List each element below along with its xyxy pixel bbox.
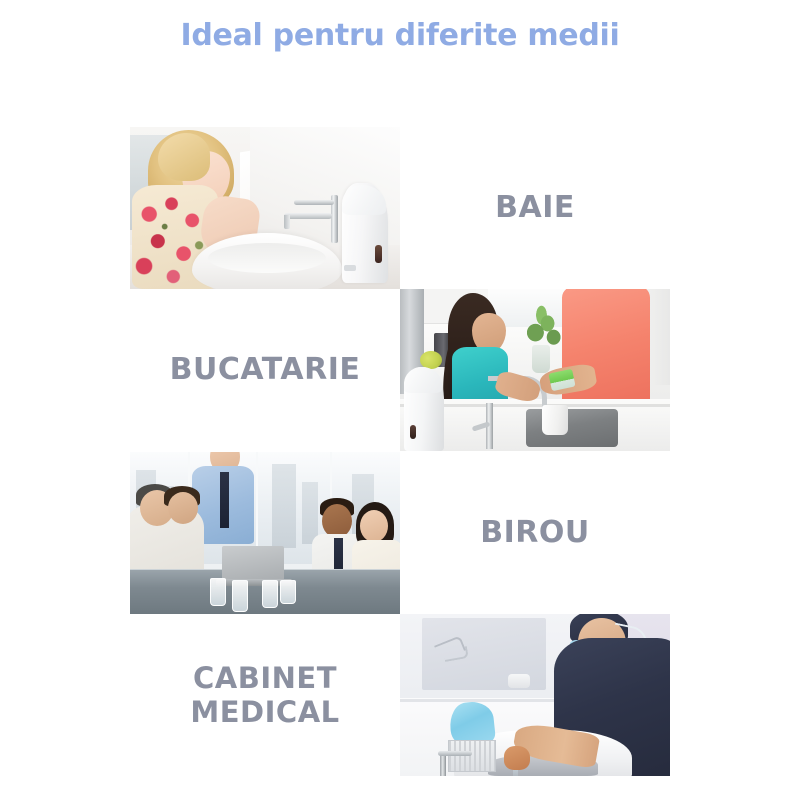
kitchen-image-cell <box>400 289 670 451</box>
medical-tap-arm <box>438 751 472 756</box>
medical-photo <box>400 614 670 776</box>
kitchen-photo <box>400 289 670 451</box>
office-image-cell <box>130 452 400 614</box>
water-glass-four <box>280 580 296 604</box>
kitchen-label-cell: BUCATARIE <box>130 289 400 451</box>
bathroom-faucet-handle <box>294 200 334 205</box>
seated-man-left2-head <box>168 492 198 524</box>
section-office: BIROU <box>130 452 670 614</box>
soap-dispenser-bathroom-nozzle <box>344 265 356 271</box>
medical-image-cell <box>400 614 670 776</box>
label-bucatarie: BUCATARIE <box>170 352 361 387</box>
soap-dispenser-bathroom-sensor <box>375 245 382 263</box>
surgeon-hands <box>504 746 530 770</box>
office-label-cell: BIROU <box>400 452 670 614</box>
label-cabinet-medical-line2: MEDICAL <box>190 695 339 729</box>
water-glass-two <box>232 580 248 612</box>
office-building-three <box>272 464 296 548</box>
label-baie: BAIE <box>495 190 575 225</box>
medical-soap-dispenser <box>508 674 530 688</box>
bathroom-image-cell <box>130 127 400 289</box>
child-hair-front <box>158 133 210 181</box>
section-bathroom: BAIE <box>130 127 670 289</box>
seated-woman-head <box>360 510 388 542</box>
bathroom-label-cell: BAIE <box>400 127 670 289</box>
soap-dispenser-kitchen-sensor <box>410 425 416 439</box>
white-mug <box>542 405 568 435</box>
seated-man-right-head <box>322 504 352 538</box>
office-building-four <box>302 482 318 544</box>
office-laptop-screen <box>222 546 284 580</box>
label-birou: BIROU <box>480 515 590 550</box>
medical-label-cell: CABINET MEDICAL <box>130 614 400 776</box>
water-glass-three <box>262 580 278 608</box>
medical-instrument-rack <box>448 740 496 772</box>
standing-man-tie <box>220 472 229 528</box>
page-title: Ideal pentru diferite medii <box>0 18 800 53</box>
section-kitchen: BUCATARIE <box>130 289 670 451</box>
bathroom-faucet-spout <box>284 213 332 219</box>
bathroom-photo <box>130 127 400 289</box>
bathroom-basin-inner <box>208 243 326 273</box>
section-medical: CABINET MEDICAL <box>130 614 670 776</box>
office-photo <box>130 452 400 614</box>
water-glass-one <box>210 578 226 606</box>
bathroom-faucet-nose <box>284 215 290 229</box>
kitchen-vase <box>532 345 550 373</box>
label-cabinet-medical: CABINET MEDICAL <box>190 661 339 729</box>
label-cabinet-medical-line1: CABINET <box>190 661 339 695</box>
woman-coral-top <box>562 289 650 411</box>
